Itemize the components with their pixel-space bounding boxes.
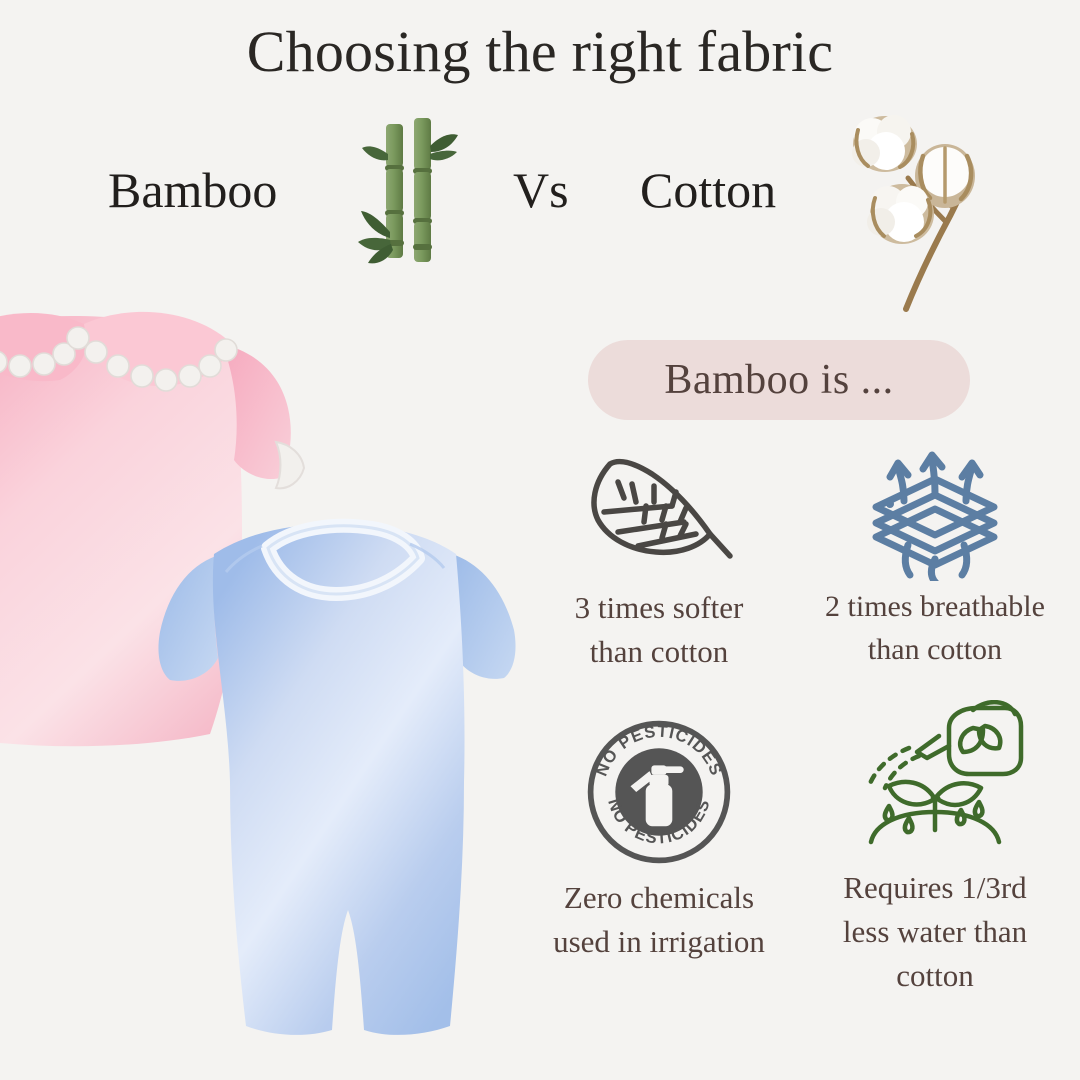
blue-baby-romper-illustration [152,502,552,1062]
bamboo-is-badge-label: Bamboo is ... [664,356,893,404]
benefit-caption-line-2: less water than [804,910,1066,954]
benefit-caption-breathability: 2 times breathable than cotton [800,586,1070,671]
watering-can-sprout-icon: ECO-FRIENDLY [800,698,1070,866]
material-label-cotton: Cotton [640,145,776,235]
benefit-item-softness: 3 times softer than cotton [524,436,794,674]
versus-label: Vs [513,145,569,235]
material-label-bamboo: Bamboo [108,145,277,235]
feather-icon [524,436,794,586]
benefits-grid: 3 times softer than cotton [520,436,1080,1066]
benefit-caption-line-1: 3 times softer [528,586,790,630]
benefit-caption-line-2: used in irrigation [528,920,790,964]
cotton-branch-icon [828,104,1078,319]
benefit-caption-line-1: Requires 1/3rd [804,866,1066,910]
page-title: Choosing the right fabric [0,22,1080,83]
benefit-caption-line-2: than cotton [804,629,1066,672]
breathable-layers-icon [800,436,1070,586]
benefit-caption-water-saving: Requires 1/3rd less water than cotton [800,866,1070,998]
benefit-item-water-saving: ECO-FRIENDLY Requires 1/3rd less water t… [800,698,1070,998]
benefit-caption-line-2: than cotton [528,630,790,674]
bamboo-is-badge: Bamboo is ... [588,340,970,420]
benefit-caption-no-pesticides: Zero chemicals used in irrigation [524,876,794,964]
no-pesticides-badge-icon: NO PESTICIDES NO PESTICIDES [524,708,794,876]
benefit-caption-line-1: 2 times breathable [804,586,1066,629]
benefit-caption-softness: 3 times softer than cotton [524,586,794,674]
benefit-item-no-pesticides: NO PESTICIDES NO PESTICIDES Zero chemica… [524,708,794,964]
benefit-item-breathability: 2 times breathable than cotton [800,436,1070,671]
infographic-canvas: Choosing the right fabric Bamboo Vs Cott… [0,0,1080,1080]
bamboo-stalks-icon [348,112,468,282]
benefit-caption-line-3: cotton [804,954,1066,998]
benefit-caption-line-1: Zero chemicals [528,876,790,920]
